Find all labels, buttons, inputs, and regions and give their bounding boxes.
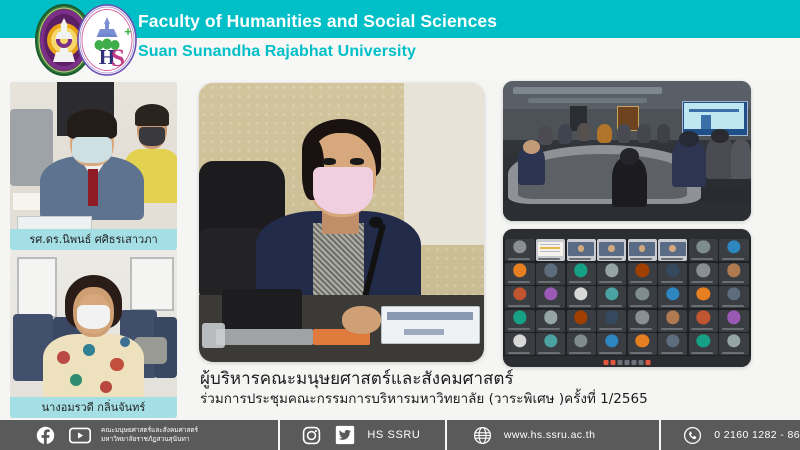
zoom-participant-tile[interactable]	[719, 310, 748, 332]
zoom-participant-tile[interactable]	[567, 286, 596, 308]
header-university-name: Suan Sunandha Rajabhat University	[138, 43, 416, 61]
header-logos: H S +	[34, 2, 140, 74]
title-block: ผู้บริหารคณะมนุษยศาสตร์และสังคมศาสตร์ ร่…	[200, 368, 760, 409]
zoom-participant-tile[interactable]	[628, 286, 657, 308]
footer-segment-website: www.hs.ssru.ac.th	[447, 420, 659, 450]
photo-card-amornwadee: นางอมรวดี กลิ่นจันทร์	[10, 250, 177, 418]
footer-thai-line1: คณะมนุษยศาสตร์และสังคมศาสตร์	[101, 426, 198, 435]
photo-card-nipon: รศ.ดร.นิพนธ์ ศศิธรเสาวภา	[10, 82, 177, 250]
zoom-participant-tile[interactable]	[689, 263, 718, 285]
zoom-participant-tile[interactable]	[505, 286, 534, 308]
footer-segment-phone: 0 2160 1282 - 86	[661, 420, 800, 450]
zoom-participant-tile[interactable]	[658, 286, 687, 308]
zoom-participant-tile[interactable]	[505, 263, 534, 285]
footer-segment-social-handle: HS SSRU	[280, 420, 445, 450]
zoom-participant-tile[interactable]	[536, 333, 565, 355]
zoom-participant-tile[interactable]	[536, 286, 565, 308]
photo-main-speaker	[199, 83, 484, 362]
page-title: ผู้บริหารคณะมนุษยศาสตร์และสังคมศาสตร์	[200, 368, 760, 390]
zoom-participant-tile[interactable]	[536, 239, 565, 261]
page-subtitle: ร่วมการประชุมคณะกรรมการบริหารมหาวิทยาลัย…	[200, 390, 760, 409]
footer-social-handle: HS SSRU	[367, 429, 420, 441]
zoom-participant-tile[interactable]	[719, 239, 748, 261]
zoom-participant-tile[interactable]	[567, 263, 596, 285]
zoom-participant-tile[interactable]	[658, 310, 687, 332]
facebook-icon[interactable]	[36, 426, 55, 445]
zoom-participant-tile[interactable]	[719, 263, 748, 285]
footer-segment-social-main: คณะมนุษยศาสตร์และสังคมศาสตร์ มหาวิทยาลัย…	[0, 420, 278, 450]
photo-zoom-meeting-grid	[503, 229, 751, 367]
photo-nipon-sasithornsaowapa	[10, 82, 177, 250]
zoom-participant-tile[interactable]	[689, 310, 718, 332]
zoom-participant-tile[interactable]	[505, 310, 534, 332]
zoom-participant-tile[interactable]	[658, 263, 687, 285]
photo-caption-nipon: รศ.ดร.นิพนธ์ ศศิธรเสาวภา	[10, 229, 177, 250]
zoom-participant-tile[interactable]	[567, 239, 596, 261]
photo-boardroom-meeting	[503, 81, 751, 221]
zoom-participant-tile[interactable]	[536, 310, 565, 332]
globe-icon	[473, 426, 492, 445]
footer-website[interactable]: www.hs.ssru.ac.th	[504, 429, 595, 441]
phone-icon	[683, 426, 702, 445]
zoom-participant-tile[interactable]	[689, 333, 718, 355]
footer-thai-line2: มหาวิทยาลัยราชภัฏสวนสุนันทา	[101, 435, 198, 444]
zoom-participant-tile[interactable]	[567, 310, 596, 332]
zoom-participant-tile[interactable]	[567, 333, 596, 355]
instagram-icon[interactable]	[302, 426, 321, 445]
youtube-icon[interactable]	[69, 427, 91, 444]
photo-card-boardroom	[503, 81, 751, 221]
zoom-participant-tile[interactable]	[658, 333, 687, 355]
zoom-participant-tile[interactable]	[719, 286, 748, 308]
photo-caption-amornwadee: นางอมรวดี กลิ่นจันทร์	[10, 397, 177, 418]
zoom-participant-tile[interactable]	[505, 333, 534, 355]
zoom-participant-tile[interactable]	[628, 239, 657, 261]
zoom-participant-tile[interactable]	[628, 333, 657, 355]
header-faculty-name: Faculty of Humanities and Social Science…	[138, 11, 497, 32]
photo-amornwadee-klinchan	[10, 250, 177, 418]
zoom-participant-tile[interactable]	[597, 263, 626, 285]
zoom-tile-grid	[505, 239, 748, 355]
svg-text:S: S	[111, 45, 125, 72]
twitter-icon[interactable]	[335, 425, 355, 445]
zoom-participant-tile[interactable]	[597, 239, 626, 261]
zoom-participant-tile[interactable]	[689, 239, 718, 261]
zoom-participant-tile[interactable]	[597, 333, 626, 355]
hs-faculty-emblem: H S +	[76, 4, 138, 76]
zoom-participant-tile[interactable]	[719, 333, 748, 355]
footer-faculty-thai: คณะมนุษยศาสตร์และสังคมศาสตร์ มหาวิทยาลัย…	[101, 426, 198, 444]
page-header: H S + Faculty of Humanities and Social S…	[0, 0, 800, 80]
zoom-participant-tile[interactable]	[628, 263, 657, 285]
photo-card-main	[199, 83, 484, 362]
zoom-participant-tile[interactable]	[597, 310, 626, 332]
zoom-participant-tile[interactable]	[689, 286, 718, 308]
zoom-toolbar	[604, 360, 651, 365]
zoom-participant-tile[interactable]	[597, 286, 626, 308]
zoom-participant-tile[interactable]	[505, 239, 534, 261]
zoom-participant-tile[interactable]	[658, 239, 687, 261]
svg-text:+: +	[124, 24, 132, 39]
photo-card-zoom-grid	[503, 229, 751, 367]
page-footer: คณะมนุษยศาสตร์และสังคมศาสตร์ มหาวิทยาลัย…	[0, 420, 800, 450]
zoom-participant-tile[interactable]	[628, 310, 657, 332]
footer-phone: 0 2160 1282 - 86	[714, 429, 800, 441]
zoom-participant-tile[interactable]	[536, 263, 565, 285]
